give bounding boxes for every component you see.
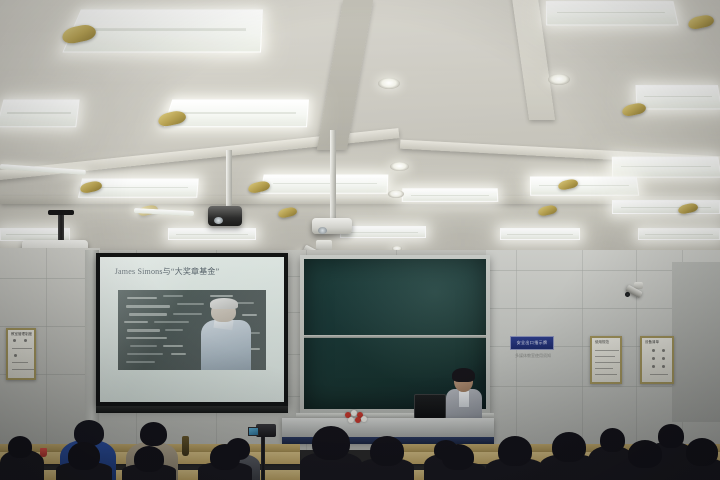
slide-title: James Simons与“大奖章基金” [115,266,277,277]
ceiling-light-panel [402,188,499,202]
tripod-leg [261,436,265,480]
ceiling-light-panel [164,99,309,127]
projector-mount-pole [58,212,64,242]
wall-frame-right: 设备清单 [640,336,674,384]
slide-figure-hair [210,298,238,309]
chalkboard-divider-rail [304,335,486,338]
ceiling-light-panel [168,228,256,240]
video-camera-lcd-screen [248,427,259,436]
presenter-hair [452,368,475,382]
projector-ceiling-mounted [312,218,352,234]
wall-frame-left: 教室管理制度 [6,328,36,380]
wall-blue-sign-text: 安全出口指示牌 [517,340,548,346]
audience-member-head [370,436,404,466]
projection-screen-surface: James Simons与“大奖章基金” [100,257,284,402]
wall-frame-mid: 使用规范 [590,336,622,384]
camera-lens-icon [625,292,630,297]
projector-mount-pole [330,130,336,218]
video-camera-tripod [248,424,276,480]
audience-member-head [498,436,532,466]
audience-member-head [552,432,586,462]
ceiling [0,0,720,262]
projection-screen: James Simons与“大奖章基金” [96,253,288,406]
audience-member-head [442,444,474,470]
audience-member-head [8,436,32,458]
audience-member-head [134,446,164,472]
wall-column-right [672,262,720,422]
ceiling-light-panel [530,176,639,195]
audience-member-head [628,440,662,468]
wall-frame-mid-title: 使用规范 [595,340,609,345]
ceiling-speaker [621,102,647,118]
video-camera-body [256,424,276,437]
audience-member-head [686,438,718,466]
ceiling-light-panel [260,174,388,193]
ceiling-light-panel [635,85,720,109]
wall-sign-caption: 多媒体教室使用须知 [508,353,558,359]
audience-area [0,414,720,480]
ceiling-downlight [388,190,404,198]
projector-mount-bracket [48,210,74,215]
surveillance-camera [626,288,652,308]
audience-member-head [600,428,625,452]
wall-frame-left-title: 教室管理制度 [11,332,32,337]
ceiling-speaker [277,206,297,219]
ceiling-light-panel [546,1,679,25]
projector-ceiling-mounted [208,206,242,226]
audience-member-head [658,424,684,448]
projector-lens-icon [214,217,223,224]
projector-mount-pole [226,150,232,206]
audience-member-head [140,422,167,446]
ceiling-light-panel [340,226,426,238]
wall-frame-right-title: 设备清单 [645,340,659,345]
audience-member-head [68,442,100,470]
projection-screen-bottom-bar [96,406,288,413]
lecture-hall-photo: EPSON [0,0,720,480]
slide-photo [118,290,265,370]
ceiling-downlight [378,78,400,89]
audience-member-head [312,426,350,460]
ceiling-downlight [548,74,570,85]
ceiling-soffit-band [317,0,373,150]
presenter-shirt [459,391,469,407]
ceiling-light-panel [0,99,80,127]
audience-member-head [210,444,240,470]
water-bottle [182,436,189,456]
ceiling-light-panel [612,200,720,214]
ceiling-downlight [390,162,409,171]
drink-cup [40,448,47,457]
ceiling-light-panel [612,157,720,178]
wall-blue-sign: 安全出口指示牌 [510,336,554,350]
ceiling-light-panel [500,228,580,240]
ceiling-speaker [537,204,557,217]
ceiling-speaker [687,13,715,30]
projector-lens-icon [318,227,327,234]
ceiling-light-panel [638,228,720,240]
